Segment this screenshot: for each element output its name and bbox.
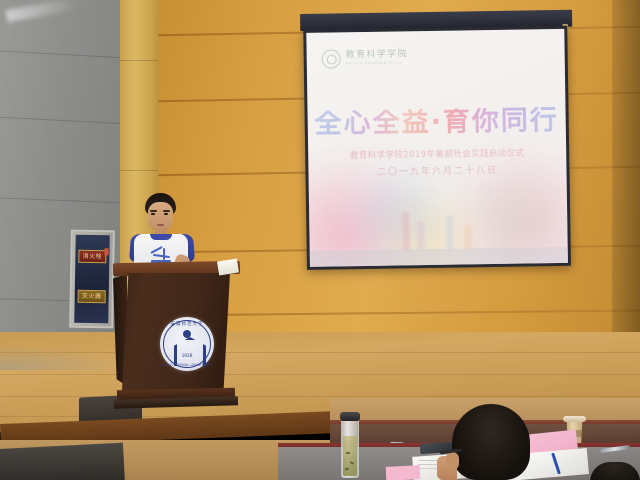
emblem-founding-year: 1928 (160, 354, 214, 359)
slide-institution-logo: 教育科学学院 School of Educational Science (322, 48, 409, 68)
emblem-english-name: ANHUI NORMAL UNIVERSITY (160, 363, 214, 367)
slide-figure-silhouette (418, 221, 425, 251)
logo-chinese-name: 教育科学学院 (346, 51, 409, 61)
pink-paper-slip (386, 465, 421, 480)
screen-frame: 教育科学学院 School of Educational Science 全心全… (303, 26, 571, 270)
slide-main-title: 全心全益·育你同行 (308, 107, 566, 138)
bottle-cap (340, 412, 360, 421)
university-emblem: 安徽师范大学 1928 ANHUI NORMAL UNIVERSITY (160, 317, 214, 371)
cabinet-latch-icon (104, 248, 108, 255)
slide-figure-silhouette (402, 211, 410, 251)
slide-figure-silhouette (464, 224, 471, 250)
cup-lid (563, 416, 586, 422)
audience-head-back (452, 404, 530, 480)
projection-screen: 教育科学学院 School of Educational Science 全心全… (300, 10, 576, 272)
logo-english-name: School of Educational Science (346, 62, 408, 66)
fire-hydrant-sign: 消火栓 (78, 250, 106, 263)
fire-equipment-cabinet: 消火栓 灭火器 (69, 230, 115, 329)
speaker-collar (150, 234, 172, 240)
audience-ear (446, 452, 459, 470)
seal-icon (322, 49, 341, 68)
slide-bottom-band (310, 247, 568, 267)
podium-front-panel: 安徽师范大学 1928 ANHUI NORMAL UNIVERSITY (122, 273, 230, 391)
emblem-chinese-name: 安徽师范大学 (160, 321, 214, 327)
wall-light-glare (5, 0, 76, 22)
left-foreground-desk (0, 443, 125, 480)
fire-extinguisher-sign: 灭火器 (78, 290, 106, 303)
presentation-slide: 教育科学学院 School of Educational Science 全心全… (306, 29, 568, 267)
lecture-hall-photo: 教育科学学院 School of Educational Science 全心全… (0, 0, 640, 480)
slide-figure-silhouette (446, 215, 454, 251)
lectern-podium: 安徽师范大学 1928 ANHUI NORMAL UNIVERSITY (117, 262, 236, 412)
